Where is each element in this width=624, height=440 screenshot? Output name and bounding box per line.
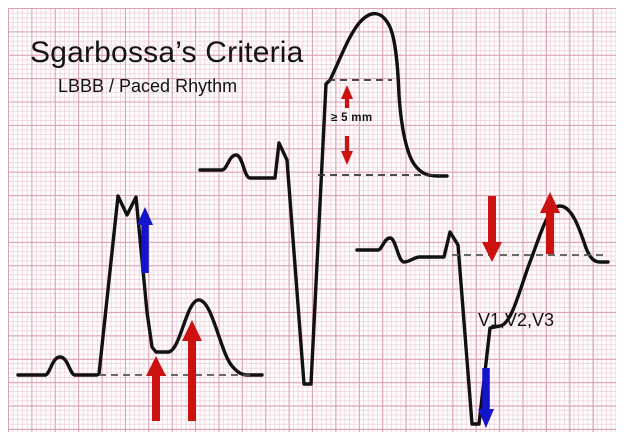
page-subtitle: LBBB / Paced Rhythm <box>58 76 237 97</box>
st-depression-arrow-red <box>482 196 502 262</box>
st-elevation-arrow-2-red <box>182 320 202 421</box>
panel-concordant-st-elevation <box>18 196 262 421</box>
st-elevation-measurement-label: ≥ 5 mm <box>331 112 372 124</box>
st-elevation-arrow-1-red <box>146 356 166 421</box>
st-elevation-measure-arrow-down-red <box>341 136 353 165</box>
ecg-diagram-page: Sgarbossa’s Criteria LBBB / Paced Rhythm… <box>0 0 624 440</box>
page-title: Sgarbossa’s Criteria <box>30 36 304 70</box>
st-elevation-measure-arrow-up-red <box>341 85 353 108</box>
leads-label: V1,V2,V3 <box>478 310 554 331</box>
